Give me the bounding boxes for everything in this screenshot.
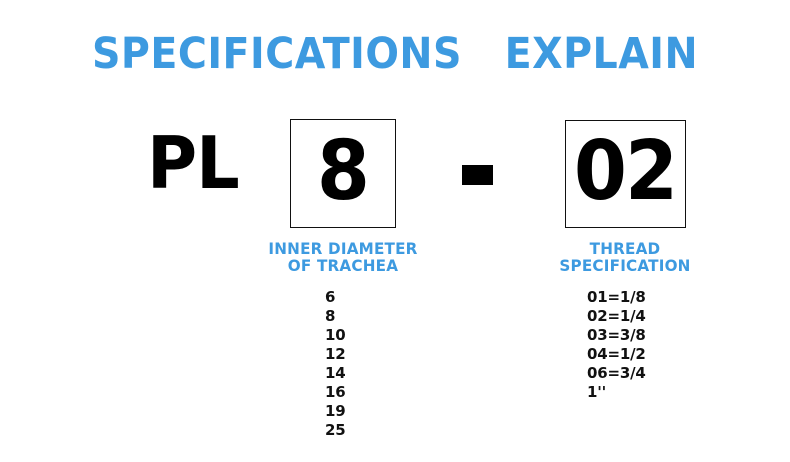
list-item: 12 [325,345,345,364]
list-item: 04=1/2 [587,345,646,364]
inner-diameter-option-list: 68101214161925 [325,288,345,440]
list-item: 02=1/4 [587,307,646,326]
separator-dash-icon [462,165,493,185]
list-item: 25 [325,421,345,440]
part-number-breakdown: PL 8 02 [0,110,790,235]
thread-code-box: 02 [565,120,686,228]
list-item: 19 [325,402,345,421]
inner-diameter-column-label: INNER DIAMETER OF TRACHEA [248,240,438,274]
list-item: 6 [325,288,345,307]
inner-diameter-code-value: 8 [317,131,368,213]
list-item: 16 [325,383,345,402]
thread-code-value: 02 [574,131,676,213]
series-prefix-label: PL [147,127,239,199]
thread-column-label: THREAD SPECIFICATION [530,240,720,274]
thread-option-list: 01=1/802=1/403=3/804=1/206=3/41'' [587,288,646,402]
list-item: 03=3/8 [587,326,646,345]
list-item: 06=3/4 [587,364,646,383]
specification-diagram: SPECIFICATIONS EXPLAIN PL 8 02 INNER DIA… [0,0,790,462]
list-item: 8 [325,307,345,326]
inner-diameter-code-box: 8 [290,119,396,228]
page-title: SPECIFICATIONS EXPLAIN [32,29,759,79]
list-item: 1'' [587,383,646,402]
list-item: 10 [325,326,345,345]
list-item: 01=1/8 [587,288,646,307]
list-item: 14 [325,364,345,383]
